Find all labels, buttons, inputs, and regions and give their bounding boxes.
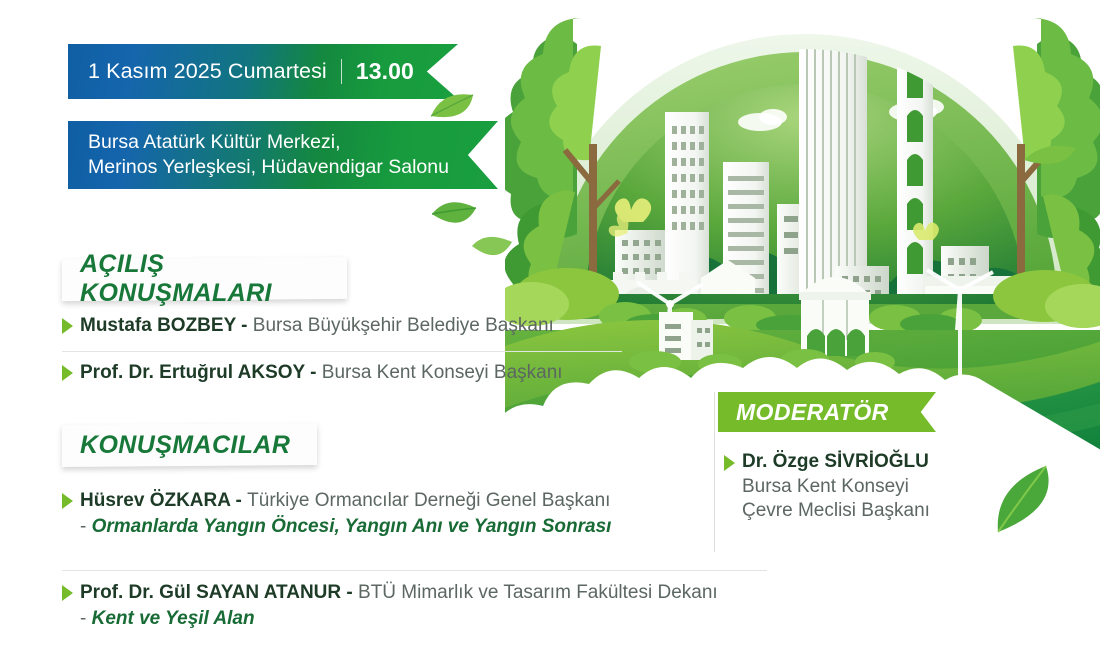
arrow-bullet-icon (62, 318, 73, 334)
list-item-opening-1: Mustafa BOZBEY - Bursa Büyükşehir Beledi… (62, 313, 554, 338)
speakers-heading-label: KONUŞMACILAR (80, 431, 290, 460)
speaker-1-role: Türkiye Ormancılar Derneği Genel Başkanı (247, 490, 610, 511)
opening-speeches-heading: AÇILIŞ KONUŞMALARI (62, 257, 347, 301)
speakers-heading: KONUŞMACILAR (62, 423, 317, 467)
list-item-speaker-1: Hüsrev ÖZKARA - Türkiye Ormancılar Derne… (62, 488, 611, 540)
leaf-decoration-icon (428, 90, 476, 126)
opening-speaker-1-name: Mustafa BOZBEY (80, 315, 236, 336)
leaf-decoration-icon (990, 460, 1060, 538)
moderator-name: Dr. Özge SİVRİOĞLU (742, 450, 930, 475)
date-time-separator (341, 59, 342, 84)
opening-speaker-2-role: Bursa Kent Konseyi Başkanı (322, 362, 563, 383)
event-date-label: 1 Kasım 2025 Cumartesi (88, 59, 327, 84)
moderator-panel: MODERATÖR Dr. Özge SİVRİOĞLU Bursa Kent … (714, 392, 1014, 524)
speaker-1-topic-dash: - (80, 516, 92, 537)
venue-line-1: Bursa Atatürk Kültür Merkezi, (88, 130, 449, 155)
opening-speaker-1-separator: - (236, 315, 253, 336)
opening-speeches-heading-label: AÇILIŞ KONUŞMALARI (80, 250, 347, 308)
opening-speaker-2-separator: - (305, 362, 322, 383)
leaf-decoration-icon (428, 196, 480, 236)
list-item-speaker-2: Prof. Dr. Gül SAYAN ATANUR - BTÜ Mimarlı… (62, 580, 718, 632)
speaker-2-role: BTÜ Mimarlık ve Tasarım Fakültesi Dekanı (358, 582, 718, 603)
entry-divider (62, 570, 767, 571)
speaker-2-topic-dash: - (80, 608, 92, 629)
opening-speaker-2-name: Prof. Dr. Ertuğrul AKSOY (80, 362, 305, 383)
leaf-decoration-icon (1022, 140, 1080, 174)
event-poster: 1 Kasım 2025 Cumartesi 13.00 Bursa Atatü… (0, 0, 1100, 650)
arrow-bullet-icon (62, 585, 73, 601)
event-time-label: 13.00 (356, 58, 414, 85)
venue-line-2: Merinos Yerleşkesi, Hüdavendigar Salonu (88, 155, 449, 180)
moderator-heading: MODERATÖR (718, 392, 936, 432)
event-date-banner: 1 Kasım 2025 Cumartesi 13.00 (68, 44, 458, 99)
list-item-opening-2: Prof. Dr. Ertuğrul AKSOY - Bursa Kent Ko… (62, 360, 563, 385)
moderator-heading-label: MODERATÖR (736, 399, 889, 426)
speaker-1-separator: - (230, 490, 247, 511)
opening-speaker-1-role: Bursa Büyükşehir Belediye Başkanı (253, 315, 554, 336)
speaker-1-name: Hüsrev ÖZKARA (80, 490, 230, 511)
arrow-bullet-icon (62, 493, 73, 509)
entry-divider (62, 351, 622, 352)
event-venue-banner: Bursa Atatürk Kültür Merkezi, Merinos Ye… (68, 121, 498, 189)
speaker-2-topic: Kent ve Yeşil Alan (92, 608, 255, 629)
arrow-bullet-icon (62, 365, 73, 381)
speaker-2-separator: - (341, 582, 358, 603)
speaker-1-topic: Ormanlarda Yangın Öncesi, Yangın Anı ve … (92, 516, 612, 537)
leaf-decoration-icon (470, 232, 514, 268)
moderator-role-line-2: Çevre Meclisi Başkanı (742, 499, 930, 524)
speaker-2-name: Prof. Dr. Gül SAYAN ATANUR (80, 582, 341, 603)
moderator-entry: Dr. Özge SİVRİOĞLU Bursa Kent Konseyi Çe… (724, 450, 1014, 524)
arrow-bullet-icon (724, 455, 735, 471)
moderator-role-line-1: Bursa Kent Konseyi (742, 475, 930, 500)
